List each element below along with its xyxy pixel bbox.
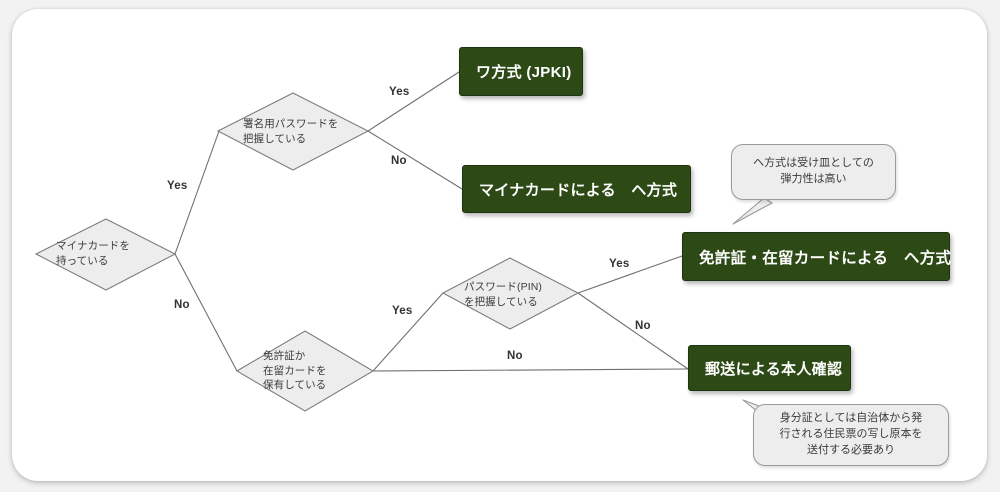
diagram-stage: マイナカードを 持っている 署名用パスワードを 把握している 免許証か 在留カー…	[0, 0, 1000, 492]
decision-label-knows-signature-password: 署名用パスワードを 把握している	[243, 112, 373, 152]
edge-label-license-yes: Yes	[392, 305, 412, 317]
edge-label-signature-yes: Yes	[389, 86, 409, 98]
edge-label-pin-yes: Yes	[609, 258, 629, 270]
decision-label-has-my-number-card: マイナカードを 持っている	[56, 234, 176, 274]
edge-signature-yes	[368, 72, 459, 131]
edge-root-no	[175, 254, 237, 371]
decision-text: 署名用パスワードを 把握している	[243, 117, 338, 147]
decision-label-has-license-or-residence-card: 免許証か 在留カードを 保有している	[263, 344, 383, 398]
result-label: マイナカードによる ヘ方式	[479, 179, 677, 200]
callout-text: ヘ方式は受け皿としての 弾力性は高い	[753, 156, 874, 188]
decision-text: パスワード(PIN) を把握している	[464, 280, 542, 310]
edge-label-signature-no: No	[391, 155, 407, 167]
callout-tail-he-method-flexibility	[733, 198, 772, 224]
edge-pin-yes	[578, 256, 682, 293]
edge-label-root-no: No	[174, 299, 190, 311]
edge-license-no	[373, 369, 688, 371]
decision-label-knows-pin: パスワード(PIN) を把握している	[464, 275, 584, 315]
edge-label-root-yes: Yes	[167, 180, 187, 192]
result-postal-identity-check[interactable]: 郵送による本人確認	[688, 345, 851, 391]
edge-label-license-no: No	[507, 350, 523, 362]
edge-label-pin-no: No	[635, 320, 651, 332]
decision-text: 免許証か 在留カードを 保有している	[263, 349, 327, 394]
result-mynumber-he[interactable]: マイナカードによる ヘ方式	[462, 165, 691, 213]
callout-text: 身分証としては自治体から発 行される住民票の写し原本を 送付する必要あり	[780, 411, 923, 459]
callout-identity-document-note: 身分証としては自治体から発 行される住民票の写し原本を 送付する必要あり	[753, 404, 949, 466]
result-label: 郵送による本人確認	[705, 358, 842, 379]
result-license-residence-he[interactable]: 免許証・在留カードによる ヘ方式	[682, 232, 950, 281]
decision-text: マイナカードを 持っている	[56, 239, 130, 269]
edge-root-yes	[175, 131, 219, 254]
result-label: ワ方式 (JPKI)	[476, 61, 572, 82]
edge-pin-no	[578, 293, 688, 369]
result-label: 免許証・在留カードによる ヘ方式	[699, 246, 951, 268]
callout-he-method-flexibility: ヘ方式は受け皿としての 弾力性は高い	[731, 144, 896, 200]
edge-signature-no	[368, 131, 462, 189]
result-wa-jpki[interactable]: ワ方式 (JPKI)	[459, 47, 583, 96]
